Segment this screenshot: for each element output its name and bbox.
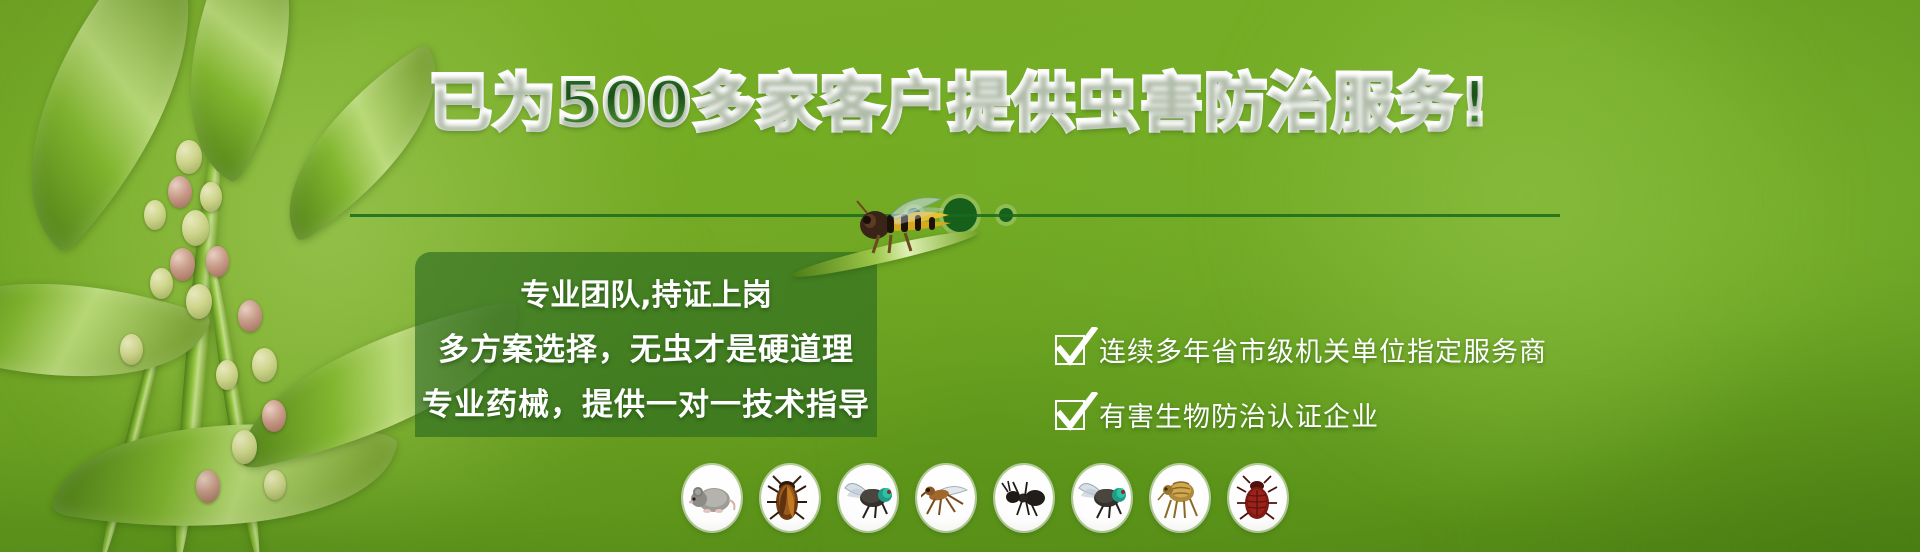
promo-banner: 已为500多家客户提供虫害防治服务! 专业团队,持证上岗 多方案选择，无虫才是硬…: [0, 0, 1920, 552]
vignette-overlay: [0, 0, 1920, 552]
